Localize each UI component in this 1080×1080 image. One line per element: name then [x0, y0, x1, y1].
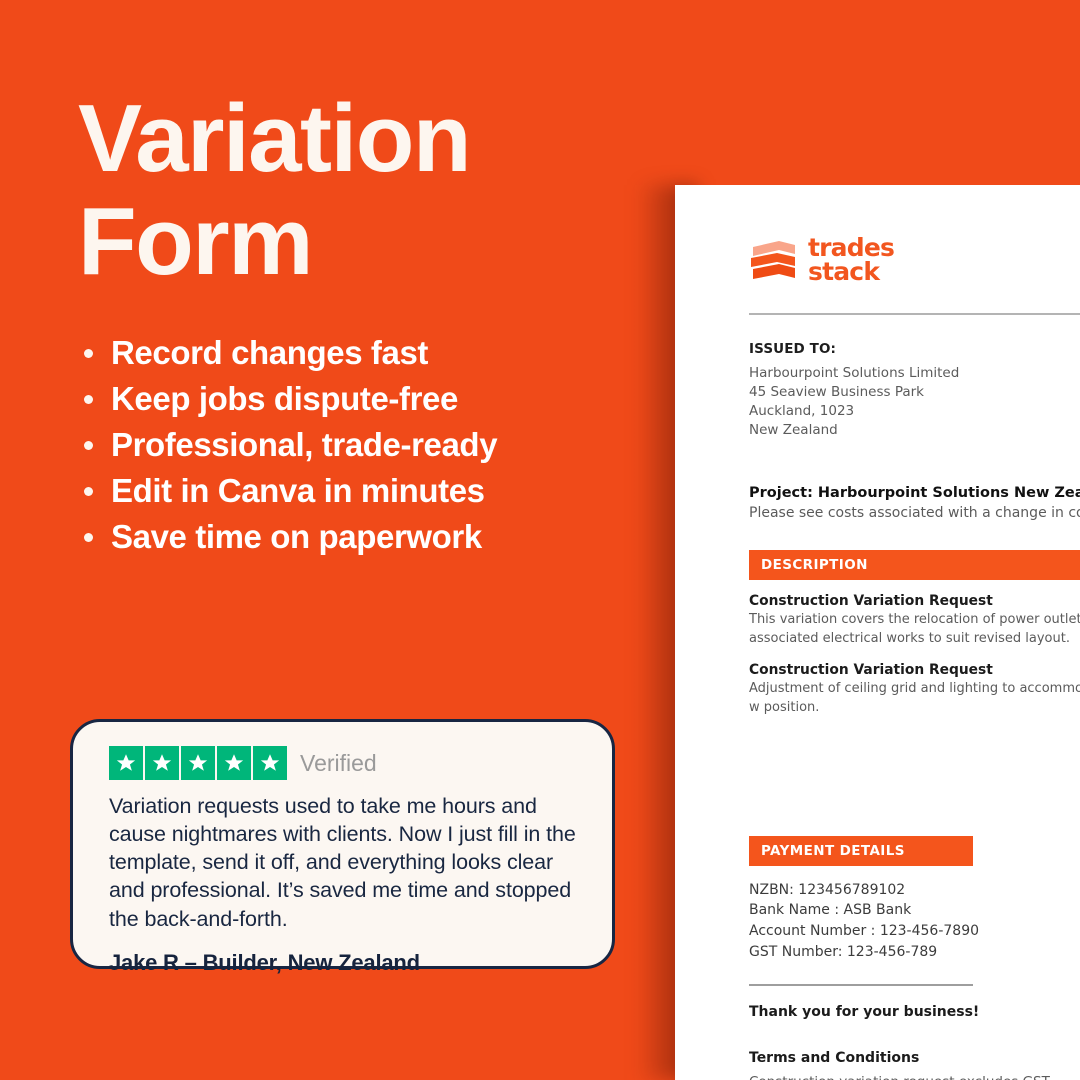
issued-to-label: ISSUED TO: — [749, 341, 1080, 357]
stacked-bricks-icon — [749, 237, 799, 283]
testimonial-author: Jake R – Builder, New Zealand — [109, 950, 582, 976]
star-icon — [217, 746, 251, 780]
logo-wordmark: trades stack — [808, 236, 894, 284]
star-rating — [109, 746, 287, 780]
payment-details-list: NZBN: 123456789102 Bank Name : ASB Bank … — [749, 880, 1080, 963]
payment-divider — [749, 984, 973, 986]
rating-row: Verified — [109, 744, 582, 782]
logo-word-stack: stack — [808, 260, 894, 284]
header-divider — [749, 313, 1080, 315]
bullet-dot-icon — [84, 533, 93, 542]
headline-line-1: Variation — [78, 88, 638, 191]
terms-list: Construction variation request excludes … — [749, 1072, 1080, 1080]
testimonial-card: Verified Variation requests used to take… — [70, 719, 615, 969]
star-icon — [109, 746, 143, 780]
testimonial-text: Variation requests used to take me hours… — [109, 792, 582, 933]
star-icon — [181, 746, 215, 780]
issued-to-line: 45 Seaview Business Park — [749, 383, 1080, 402]
description-item: Construction Variation Request Adjustmen… — [749, 662, 1080, 718]
document-preview: trades stack ISSUED TO: Harbourpoint Sol… — [675, 185, 1080, 1080]
benefits-list: Record changes fast Keep jobs dispute-fr… — [78, 330, 658, 560]
star-icon — [145, 746, 179, 780]
payment-line: Bank Name : ASB Bank — [749, 900, 1080, 921]
bullet-dot-icon — [84, 441, 93, 450]
description-item: Construction Variation Request This vari… — [749, 593, 1080, 649]
issued-to-block: ISSUED TO: Harbourpoint Solutions Limite… — [749, 341, 1080, 441]
description-item-body: Adjustment of ceiling grid and lighting … — [749, 680, 1080, 718]
project-subtitle: Please see costs associated with a chang… — [749, 505, 1080, 521]
terms-title: Terms and Conditions — [749, 1050, 1080, 1066]
benefit-item: Professional, trade-ready — [78, 422, 658, 468]
benefit-label: Keep jobs dispute-free — [111, 380, 458, 418]
benefit-item: Save time on paperwork — [78, 514, 658, 560]
description-item-title: Construction Variation Request — [749, 593, 1080, 609]
thank-you-note: Thank you for your business! — [749, 1004, 1080, 1020]
terms-line: Construction variation request excludes … — [749, 1072, 1080, 1080]
headline-line-2: Form — [78, 191, 638, 294]
bullet-dot-icon — [84, 487, 93, 496]
benefit-item: Keep jobs dispute-free — [78, 376, 658, 422]
description-section-header: DESCRIPTION — [749, 550, 1080, 580]
issued-to-line: New Zealand — [749, 421, 1080, 440]
benefit-label: Save time on paperwork — [111, 518, 482, 556]
star-icon — [253, 746, 287, 780]
brand-logo: trades stack — [749, 233, 1080, 287]
benefit-item: Edit in Canva in minutes — [78, 468, 658, 514]
bullet-dot-icon — [84, 349, 93, 358]
payment-line: NZBN: 123456789102 — [749, 880, 1080, 901]
issued-to-line: Harbourpoint Solutions Limited — [749, 364, 1080, 383]
promo-panel: Variation Form Record changes fast Keep … — [0, 0, 680, 1080]
benefit-label: Edit in Canva in minutes — [111, 472, 485, 510]
description-item-title: Construction Variation Request — [749, 662, 1080, 678]
payment-line: Account Number : 123-456-7890 — [749, 921, 1080, 942]
project-title: Project: Harbourpoint Solutions New Zeal… — [749, 485, 1080, 501]
benefit-label: Record changes fast — [111, 334, 428, 372]
benefit-item: Record changes fast — [78, 330, 658, 376]
page-title: Variation Form — [78, 88, 638, 293]
description-item-body: This variation covers the relocation of … — [749, 611, 1080, 649]
benefit-label: Professional, trade-ready — [111, 426, 497, 464]
issued-to-line: Auckland, 1023 — [749, 402, 1080, 421]
verified-badge: Verified — [300, 750, 377, 777]
payment-line: GST Number: 123-456-789 — [749, 942, 1080, 963]
bullet-dot-icon — [84, 395, 93, 404]
payment-section-header: PAYMENT DETAILS — [749, 836, 973, 866]
